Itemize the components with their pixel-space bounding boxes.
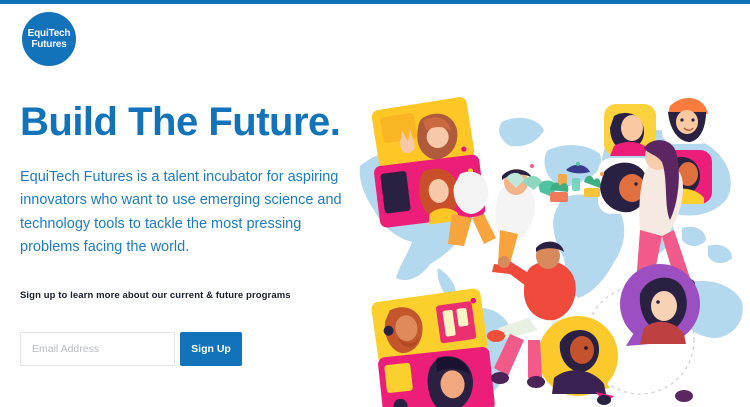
speech-bubble-avatar-purple [620, 264, 700, 346]
hero-illustration [352, 78, 750, 407]
avatar-tile-orange-hat [662, 92, 712, 144]
signup-form: Sign Up [20, 332, 242, 366]
hero-paragraph: EquiTech Futures is a talent incubator f… [20, 166, 350, 260]
signup-button[interactable]: Sign Up [180, 332, 242, 366]
logo-line-2: Futures [31, 39, 66, 50]
bottom-accents [596, 390, 693, 405]
signup-note: Sign up to learn more about our current … [20, 290, 291, 301]
logo[interactable]: EquiTech Futures [22, 12, 76, 66]
hero-copy: Build The Future. EquiTech Futures is a … [20, 100, 360, 260]
logo-line-1: EquiTech [28, 28, 71, 39]
speech-bubble-avatar-yellow [538, 316, 618, 396]
email-field[interactable] [20, 332, 175, 366]
page-title: Build The Future. [20, 100, 360, 144]
landing-page: EquiTech Futures Build The Future. EquiT… [0, 0, 750, 407]
top-accent-bar [0, 0, 750, 4]
